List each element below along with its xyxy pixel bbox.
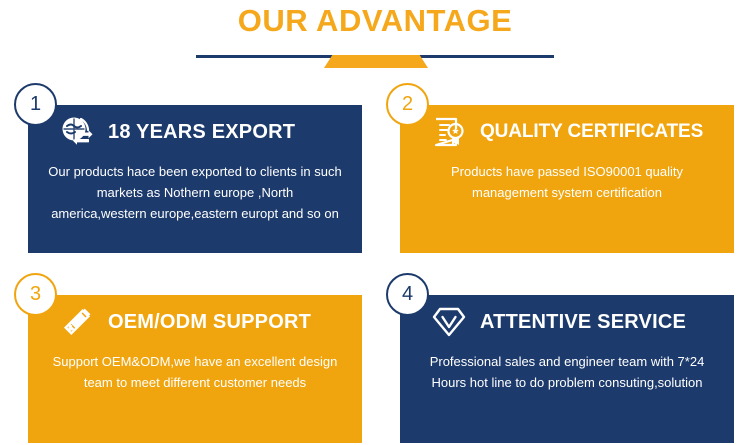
card-body-text: Support OEM&ODM,we have an excellent des… — [40, 351, 350, 393]
advantage-card-grid: 18 YEARS EXPORT Our products hace been e… — [0, 80, 750, 445]
card-body-text: Products have passed ISO90001 quality ma… — [412, 161, 722, 203]
card-heading: ATTENTIVE SERVICE — [480, 311, 686, 334]
globe-exchange-icon — [58, 113, 96, 151]
advantage-card-4[interactable]: ATTENTIVE SERVICE Professional sales and… — [386, 273, 736, 443]
title-divider — [196, 48, 554, 70]
advantage-card-2[interactable]: QUALITY CERTIFICATES Products have passe… — [386, 83, 736, 253]
card-header: 18 YEARS EXPORT — [40, 105, 350, 159]
card-number-badge: 3 — [14, 273, 57, 316]
pencil-ruler-icon — [58, 303, 96, 341]
card-number-badge: 4 — [386, 273, 429, 316]
advantage-card-1[interactable]: 18 YEARS EXPORT Our products hace been e… — [14, 83, 364, 253]
certificate-award-icon — [430, 113, 468, 151]
card-panel: OEM/ODM SUPPORT Support OEM&ODM,we have … — [28, 295, 362, 443]
card-body-text: Our products hace been exported to clien… — [40, 161, 350, 224]
card-body-text: Professional sales and engineer team wit… — [412, 351, 722, 393]
card-panel: 18 YEARS EXPORT Our products hace been e… — [28, 105, 362, 253]
card-heading: 18 YEARS EXPORT — [108, 121, 295, 144]
page-header: OUR ADVANTAGE — [0, 0, 750, 80]
card-number-badge: 2 — [386, 83, 429, 126]
diamond-check-icon — [430, 303, 468, 341]
advantage-card-3[interactable]: OEM/ODM SUPPORT Support OEM&ODM,we have … — [14, 273, 364, 443]
page-title: OUR ADVANTAGE — [0, 2, 750, 40]
card-panel: QUALITY CERTIFICATES Products have passe… — [400, 105, 734, 253]
card-heading: QUALITY CERTIFICATES — [480, 121, 703, 143]
card-header: ATTENTIVE SERVICE — [412, 295, 722, 349]
card-panel: ATTENTIVE SERVICE Professional sales and… — [400, 295, 734, 443]
divider-accent-shape — [324, 55, 428, 68]
card-header: QUALITY CERTIFICATES — [412, 105, 722, 159]
card-header: OEM/ODM SUPPORT — [40, 295, 350, 349]
card-heading: OEM/ODM SUPPORT — [108, 311, 311, 334]
card-number-badge: 1 — [14, 83, 57, 126]
